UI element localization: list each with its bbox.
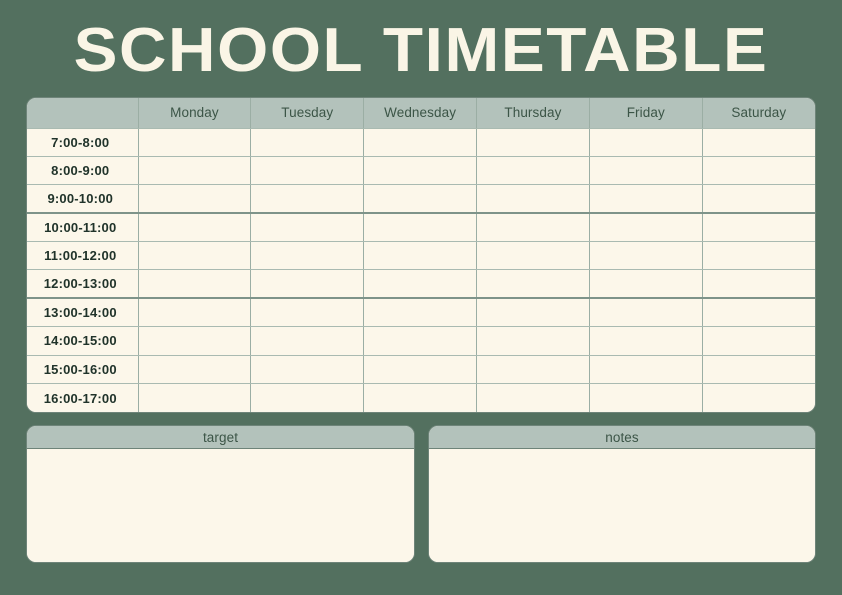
timetable-cell[interactable] bbox=[251, 156, 364, 184]
timetable-cell[interactable] bbox=[477, 156, 590, 184]
notes-panel: notes bbox=[429, 426, 815, 562]
timetable-cell[interactable] bbox=[589, 128, 702, 156]
timetable-time-label: 9:00-10:00 bbox=[27, 185, 138, 213]
timetable-cell[interactable] bbox=[477, 327, 590, 355]
timetable-cell[interactable] bbox=[702, 270, 815, 298]
timetable-row: 7:00-8:00 bbox=[27, 128, 815, 156]
timetable-row: 16:00-17:00 bbox=[27, 384, 815, 412]
timetable-cell[interactable] bbox=[364, 270, 477, 298]
timetable-cell[interactable] bbox=[364, 384, 477, 412]
page-title: SCHOOL TIMETABLE bbox=[0, 16, 842, 86]
timetable-time-label: 8:00-9:00 bbox=[27, 156, 138, 184]
timetable-cell[interactable] bbox=[477, 384, 590, 412]
timetable-cell[interactable] bbox=[477, 355, 590, 383]
timetable-day-header-friday: Friday bbox=[589, 98, 702, 128]
timetable-cell[interactable] bbox=[251, 128, 364, 156]
timetable-cell[interactable] bbox=[589, 242, 702, 270]
timetable-cell[interactable] bbox=[251, 327, 364, 355]
notes-panel-header: notes bbox=[429, 426, 815, 449]
timetable-cell[interactable] bbox=[702, 242, 815, 270]
bottom-panels: targetnotes bbox=[27, 426, 815, 562]
timetable-time-label: 10:00-11:00 bbox=[27, 213, 138, 241]
target-panel-header: target bbox=[27, 426, 414, 449]
timetable-cell[interactable] bbox=[477, 298, 590, 326]
timetable-cell[interactable] bbox=[702, 384, 815, 412]
timetable-time-label: 14:00-15:00 bbox=[27, 327, 138, 355]
timetable-day-header-monday: Monday bbox=[138, 98, 251, 128]
timetable-cell[interactable] bbox=[589, 185, 702, 213]
timetable-cell[interactable] bbox=[589, 327, 702, 355]
timetable-cell[interactable] bbox=[138, 128, 251, 156]
timetable-cell[interactable] bbox=[364, 242, 477, 270]
timetable-cell[interactable] bbox=[138, 355, 251, 383]
timetable-head: MondayTuesdayWednesdayThursdayFridaySatu… bbox=[27, 98, 815, 128]
timetable-cell[interactable] bbox=[138, 213, 251, 241]
timetable-cell[interactable] bbox=[251, 213, 364, 241]
timetable-row: 10:00-11:00 bbox=[27, 213, 815, 241]
timetable-row: 13:00-14:00 bbox=[27, 298, 815, 326]
timetable-cell[interactable] bbox=[138, 384, 251, 412]
timetable-cell[interactable] bbox=[364, 327, 477, 355]
timetable-cell[interactable] bbox=[589, 270, 702, 298]
timetable-cell[interactable] bbox=[589, 156, 702, 184]
target-panel-body[interactable] bbox=[27, 449, 414, 562]
timetable-cell[interactable] bbox=[364, 156, 477, 184]
timetable-time-label: 11:00-12:00 bbox=[27, 242, 138, 270]
timetable-cell[interactable] bbox=[364, 355, 477, 383]
timetable: MondayTuesdayWednesdayThursdayFridaySatu… bbox=[27, 98, 815, 412]
timetable-corner-header bbox=[27, 98, 138, 128]
timetable-row: 9:00-10:00 bbox=[27, 185, 815, 213]
timetable-time-label: 7:00-8:00 bbox=[27, 128, 138, 156]
timetable-day-header-saturday: Saturday bbox=[702, 98, 815, 128]
timetable-cell[interactable] bbox=[702, 156, 815, 184]
timetable-time-label: 16:00-17:00 bbox=[27, 384, 138, 412]
timetable-day-header-tuesday: Tuesday bbox=[251, 98, 364, 128]
timetable-cell[interactable] bbox=[589, 355, 702, 383]
timetable-cell[interactable] bbox=[477, 185, 590, 213]
timetable-body: 7:00-8:008:00-9:009:00-10:0010:00-11:001… bbox=[27, 128, 815, 412]
timetable-time-label: 15:00-16:00 bbox=[27, 355, 138, 383]
timetable-time-label: 12:00-13:00 bbox=[27, 270, 138, 298]
target-panel: target bbox=[27, 426, 414, 562]
timetable-cell[interactable] bbox=[702, 128, 815, 156]
timetable-cell[interactable] bbox=[589, 384, 702, 412]
timetable-cell[interactable] bbox=[138, 185, 251, 213]
timetable-cell[interactable] bbox=[364, 213, 477, 241]
timetable-cell[interactable] bbox=[702, 327, 815, 355]
timetable-cell[interactable] bbox=[364, 298, 477, 326]
timetable-cell[interactable] bbox=[251, 270, 364, 298]
timetable-cell[interactable] bbox=[477, 213, 590, 241]
timetable-cell[interactable] bbox=[364, 185, 477, 213]
timetable-row: 11:00-12:00 bbox=[27, 242, 815, 270]
timetable-cell[interactable] bbox=[702, 355, 815, 383]
timetable-cell[interactable] bbox=[138, 270, 251, 298]
timetable-cell[interactable] bbox=[251, 298, 364, 326]
notes-panel-body[interactable] bbox=[429, 449, 815, 562]
timetable-cell[interactable] bbox=[251, 384, 364, 412]
timetable-row: 12:00-13:00 bbox=[27, 270, 815, 298]
timetable-cell[interactable] bbox=[138, 327, 251, 355]
timetable-cell[interactable] bbox=[251, 185, 364, 213]
timetable-day-header-wednesday: Wednesday bbox=[364, 98, 477, 128]
timetable-header-row: MondayTuesdayWednesdayThursdayFridaySatu… bbox=[27, 98, 815, 128]
timetable-row: 8:00-9:00 bbox=[27, 156, 815, 184]
timetable-day-header-thursday: Thursday bbox=[477, 98, 590, 128]
timetable-cell[interactable] bbox=[251, 355, 364, 383]
timetable-card: MondayTuesdayWednesdayThursdayFridaySatu… bbox=[27, 98, 815, 412]
timetable-time-label: 13:00-14:00 bbox=[27, 298, 138, 326]
timetable-cell[interactable] bbox=[138, 298, 251, 326]
timetable-row: 15:00-16:00 bbox=[27, 355, 815, 383]
timetable-cell[interactable] bbox=[702, 298, 815, 326]
timetable-cell[interactable] bbox=[477, 128, 590, 156]
timetable-cell[interactable] bbox=[589, 213, 702, 241]
timetable-cell[interactable] bbox=[251, 242, 364, 270]
timetable-cell[interactable] bbox=[702, 185, 815, 213]
timetable-cell[interactable] bbox=[702, 213, 815, 241]
timetable-cell[interactable] bbox=[477, 270, 590, 298]
timetable-row: 14:00-15:00 bbox=[27, 327, 815, 355]
timetable-cell[interactable] bbox=[364, 128, 477, 156]
timetable-cell[interactable] bbox=[477, 242, 590, 270]
timetable-cell[interactable] bbox=[138, 156, 251, 184]
timetable-cell[interactable] bbox=[138, 242, 251, 270]
timetable-cell[interactable] bbox=[589, 298, 702, 326]
